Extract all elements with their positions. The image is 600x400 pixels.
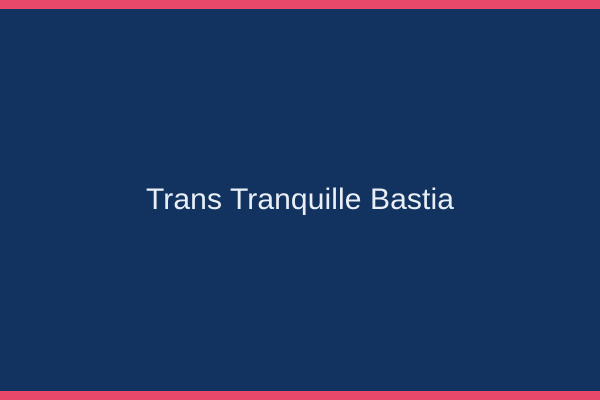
banner-card: Trans Tranquille Bastia: [0, 0, 600, 400]
banner-title: Trans Tranquille Bastia: [146, 183, 454, 216]
bottom-accent-bar: [0, 391, 600, 400]
top-accent-bar: [0, 0, 600, 9]
banner-body: Trans Tranquille Bastia: [0, 9, 600, 391]
